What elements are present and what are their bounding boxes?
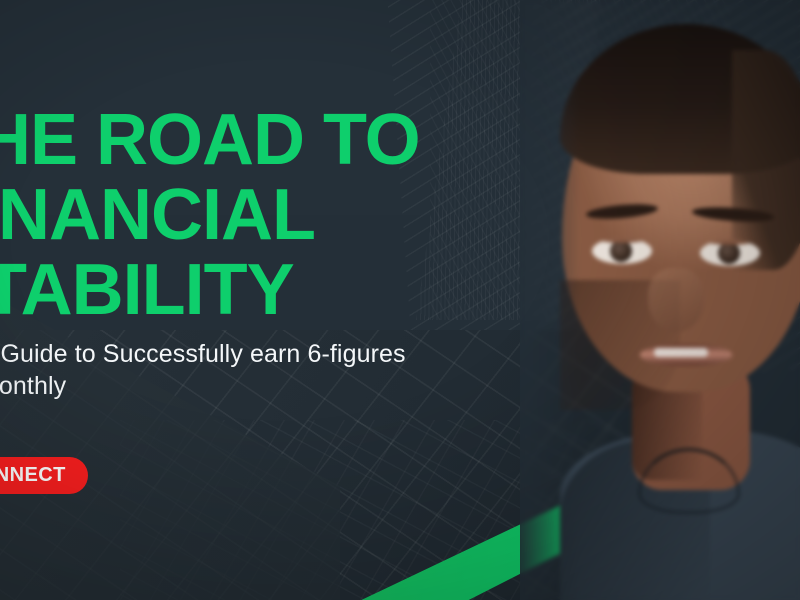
portrait-nose (648, 268, 704, 332)
portrait-eyelid-right (700, 240, 760, 245)
portrait-eye-left (592, 238, 652, 264)
connect-button[interactable]: CONNECT (0, 457, 88, 494)
person-portrait (520, 0, 800, 600)
portrait-teeth (654, 348, 708, 357)
promo-banner: THE ROAD TO FINANCIAL STABILITY A Guide … (0, 0, 800, 600)
portrait-eye-right (700, 240, 760, 266)
banner-headline: THE ROAD TO FINANCIAL STABILITY (0, 103, 420, 328)
portrait-edge-fade (520, 0, 580, 600)
banner-subtitle: A Guide to Successfully earn 6-figures M… (0, 338, 478, 402)
portrait-iris-right (718, 242, 740, 264)
portrait-iris-left (610, 240, 632, 262)
portrait-hair-side (732, 50, 800, 270)
portrait-eyelid-left (592, 238, 652, 243)
connect-button-label: CONNECT (0, 464, 66, 487)
